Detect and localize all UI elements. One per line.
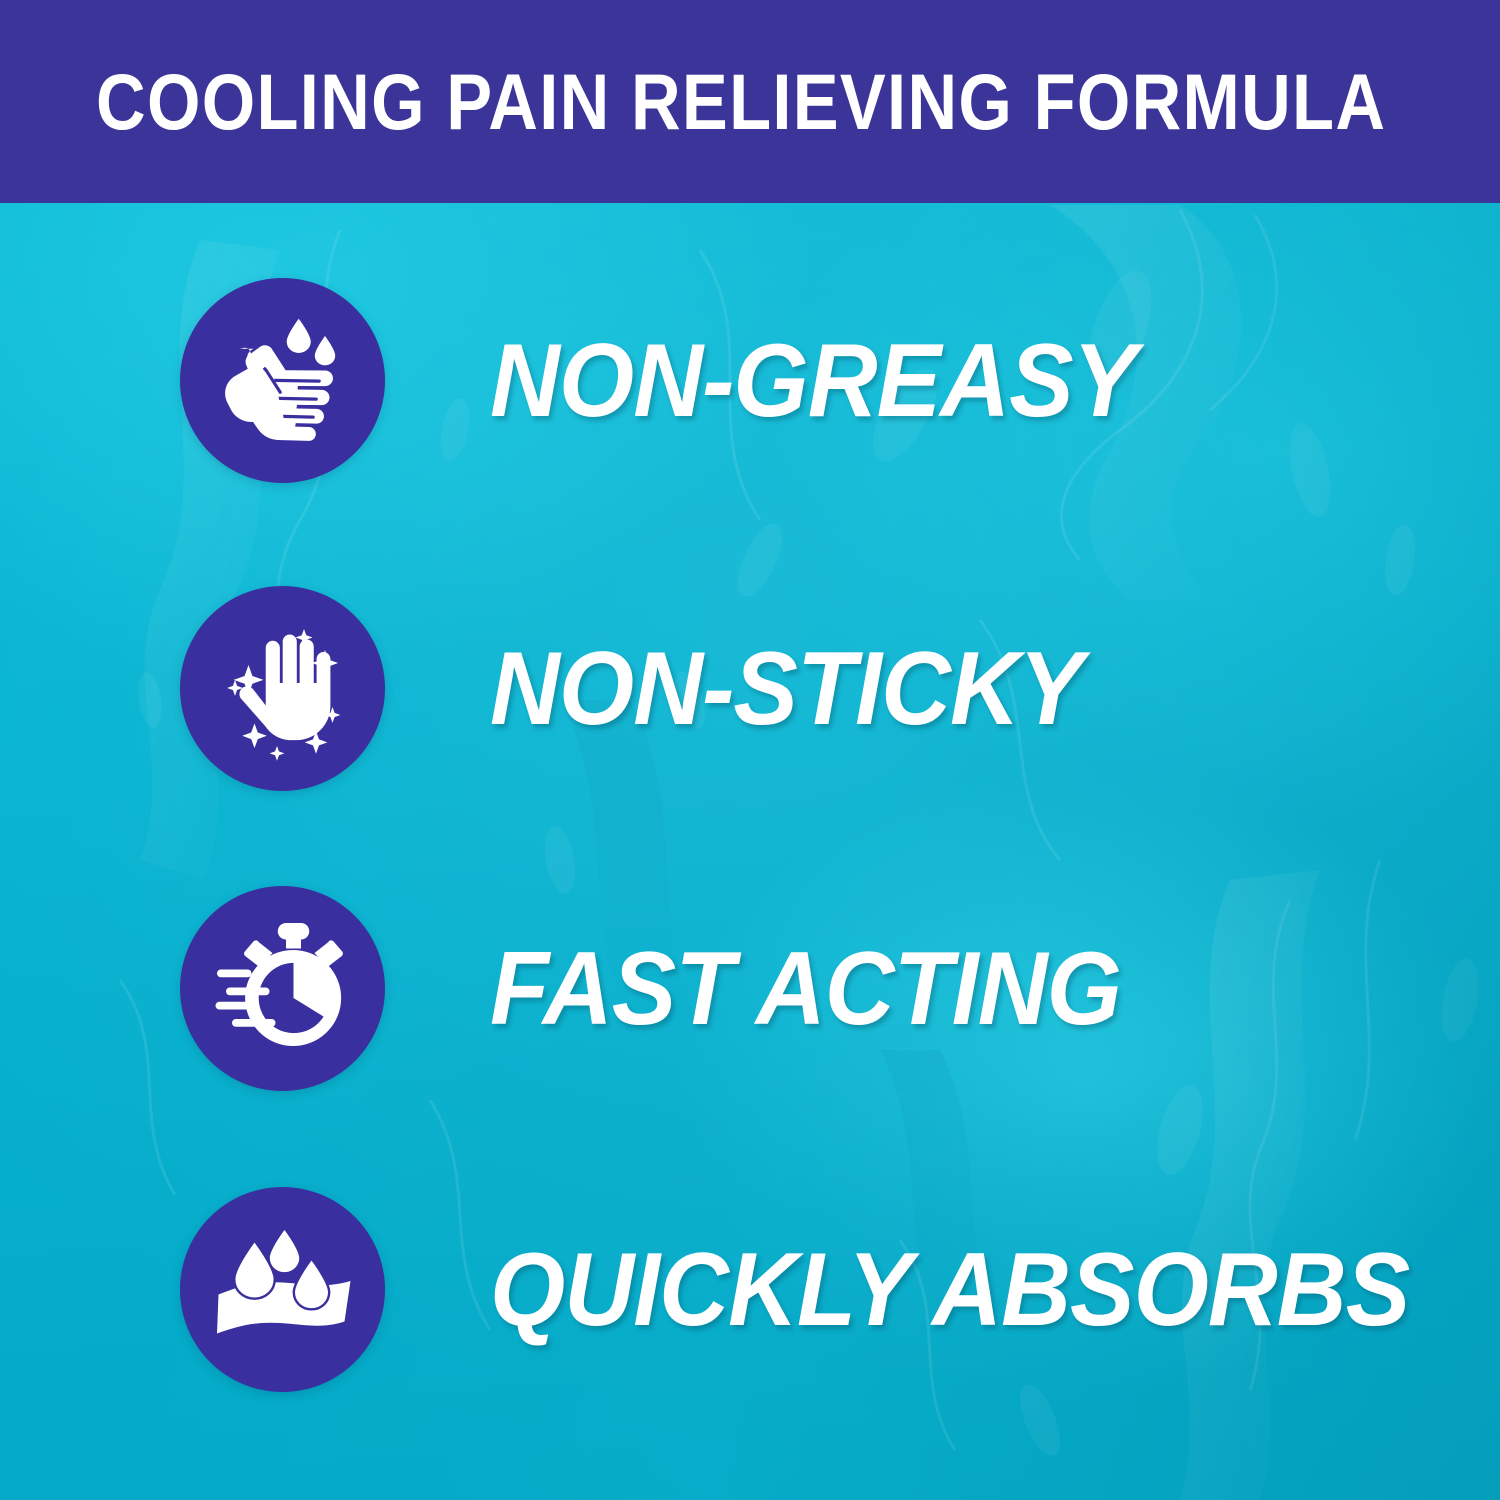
feature-label: NON-GREASY	[490, 329, 1136, 433]
feature-row: FAST ACTING	[0, 886, 1500, 1091]
feature-label: FAST ACTING	[490, 937, 1121, 1041]
feature-label: QUICKLY ABSORBS	[490, 1238, 1409, 1342]
open-palm-with-sparkles-icon	[180, 586, 385, 791]
feature-row: QUICKLY ABSORBS	[0, 1187, 1500, 1392]
stopwatch-with-speed-lines-icon	[180, 886, 385, 1091]
feature-row: NON-STICKY	[0, 586, 1500, 791]
feature-list: NON-GREASY	[0, 203, 1500, 1500]
header-banner: COOLING PAIN RELIEVING FORMULA	[0, 0, 1500, 203]
page-title: COOLING PAIN RELIEVING FORMULA	[96, 62, 1386, 141]
hands-rubbing-with-droplets-icon	[180, 278, 385, 483]
feature-label: NON-STICKY	[490, 637, 1083, 741]
droplets-on-surface-icon	[180, 1187, 385, 1392]
product-infographic: COOLING PAIN RELIEVING FORMULA	[0, 0, 1500, 1500]
feature-row: NON-GREASY	[0, 278, 1500, 483]
